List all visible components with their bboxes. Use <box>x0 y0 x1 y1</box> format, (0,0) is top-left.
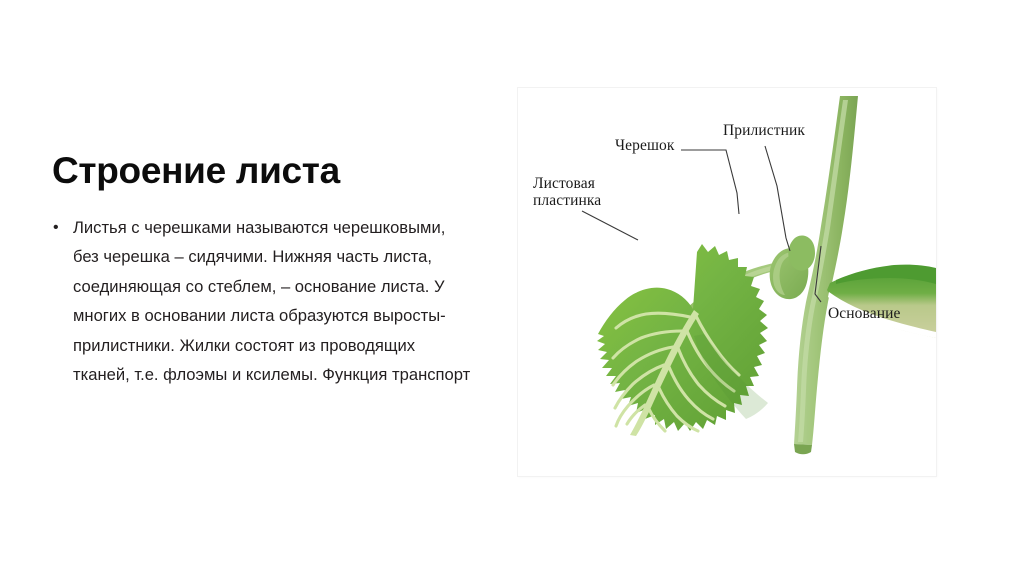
leader-line-stipule <box>765 146 790 251</box>
label-stipule: Прилистник <box>723 123 805 140</box>
leaf-blade-shape <box>581 244 774 441</box>
page-title: Строение листа <box>52 152 472 191</box>
bullet-text: Листья с черешками называются черешковым… <box>73 218 470 385</box>
bullet-marker: • <box>53 213 59 243</box>
leader-line-blade <box>582 211 638 240</box>
text-column: Строение листа • Листья с черешками назы… <box>52 152 472 390</box>
stipule-shape <box>770 236 815 300</box>
label-petiole: Черешок <box>615 138 675 155</box>
leader-line-petiole <box>681 150 739 214</box>
label-leaf-blade: Листовая пластинка <box>533 176 601 209</box>
label-base: Основание <box>828 306 900 323</box>
diagram-canvas: Листовая пластинка Черешок Прилистник Ос… <box>518 88 936 476</box>
bullet-list: • Листья с черешками называются черешков… <box>52 213 472 390</box>
partial-leaf-shape <box>827 265 936 338</box>
slide-root: Строение листа • Листья с черешками назы… <box>0 0 1024 574</box>
list-item: • Листья с черешками называются черешков… <box>52 213 472 390</box>
leaf-diagram-figure: Листовая пластинка Черешок Прилистник Ос… <box>518 88 936 476</box>
